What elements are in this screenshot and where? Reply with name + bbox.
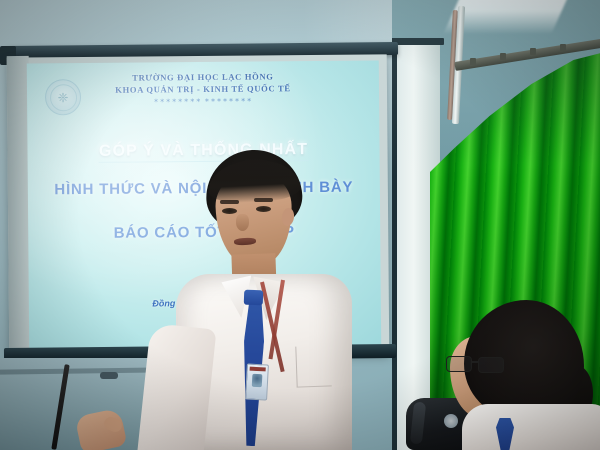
curtain-hook — [530, 48, 536, 55]
presenter-necktie-knot — [244, 290, 264, 306]
curtain-hook — [500, 53, 506, 60]
presenter-eyebrow-right — [254, 198, 273, 202]
eyeglass-lens-right — [478, 357, 504, 373]
standing-presenter — [150, 150, 400, 450]
presenter-eye-right — [256, 206, 271, 212]
slide-header-faculty: KHOA QUẢN TRỊ - KINH TẾ QUỐC TẾ — [27, 82, 379, 95]
presenter-eyebrow-left — [220, 200, 239, 204]
slide-header: TRƯỜNG ĐẠI HỌC LẠC HỒNG KHOA QUẢN TRỊ - … — [27, 70, 379, 105]
presenter-id-badge — [245, 363, 269, 400]
wall-fixture — [100, 372, 118, 379]
presenter-eye-left — [222, 208, 237, 214]
door-frame-top — [392, 38, 444, 45]
eyeglasses-icon — [446, 356, 504, 372]
curtain-hook — [560, 44, 566, 51]
presenter-ear — [281, 207, 295, 226]
presenter-arm — [137, 323, 216, 450]
eyeglass-lens-left — [446, 356, 472, 372]
slide-header-university: TRƯỜNG ĐẠI HỌC LẠC HỒNG — [27, 70, 379, 83]
slide-header-divider: ∗∗∗∗∗∗∗∗ ∗∗∗∗∗∗∗∗ — [27, 95, 379, 105]
photo-scene: ❈ TRƯỜNG ĐẠI HỌC LẠC HỒNG KHOA QUẢN TRỊ … — [0, 0, 600, 450]
eyeglass-bridge — [471, 361, 479, 363]
curtain-hook — [470, 58, 476, 65]
seated-attendee — [440, 300, 600, 450]
attendee-shirt — [462, 404, 600, 450]
presenter-nose — [236, 214, 249, 231]
presenter-shirt-pocket — [295, 345, 331, 387]
